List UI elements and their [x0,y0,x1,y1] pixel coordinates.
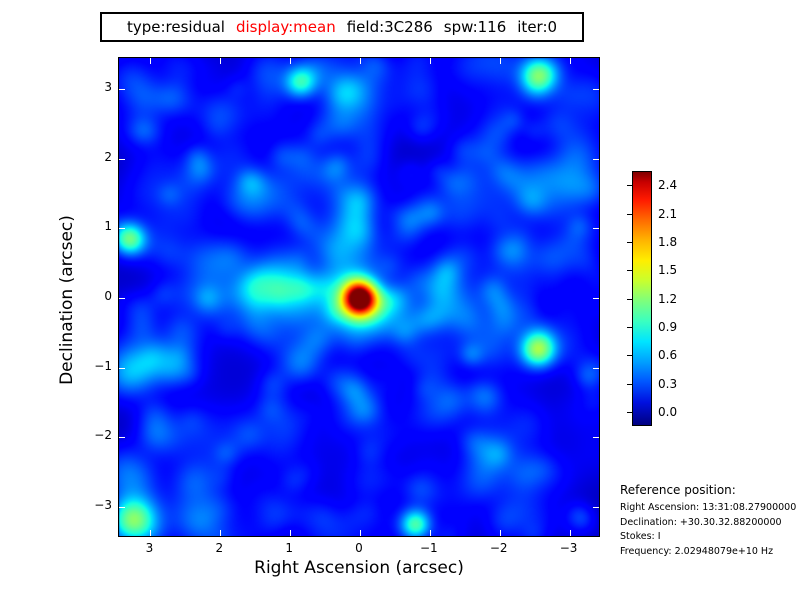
header-item-type: type:residual [127,20,225,35]
colorbar-tick-mark [627,327,632,328]
colorbar-tick-mark [627,299,632,300]
x-tick-mark [500,530,501,536]
reference-stokes: Stokes: I [620,530,800,545]
x-tick-label: 3 [129,541,169,555]
x-tick-label: 1 [269,541,309,555]
x-tick-mark [360,58,361,64]
colorbar-tick-mark [627,412,632,413]
colorbar-tick-label: 1.2 [658,292,677,306]
residual-image-canvas[interactable] [119,58,600,537]
y-tick-label: 3 [82,80,112,94]
reference-position-title: Reference position: [620,483,800,497]
y-tick-mark [119,437,125,438]
colorbar-tick-label: 2.1 [658,207,677,221]
colorbar-tick-label: 2.4 [658,178,677,192]
colorbar-tick-mark [627,242,632,243]
colorbar-tick-mark [627,270,632,271]
y-tick-mark [593,368,599,369]
y-tick-mark [119,368,125,369]
y-tick-mark [119,298,125,299]
y-tick-label: 0 [82,289,112,303]
y-tick-mark [593,437,599,438]
x-tick-mark [570,530,571,536]
colorbar-tick-label: 0.3 [658,377,677,391]
image-info-header: type:residual display:mean field:3C286 s… [100,12,584,42]
colorbar-tick-mark [627,185,632,186]
y-tick-mark [593,228,599,229]
colorbar[interactable] [632,171,652,426]
x-tick-mark [570,58,571,64]
y-tick-mark [593,159,599,160]
x-tick-mark [430,530,431,536]
y-tick-label: −1 [82,359,112,373]
x-tick-mark [220,58,221,64]
y-tick-label: −3 [82,498,112,512]
header-item-display: display:mean [236,20,336,35]
x-tick-mark [430,58,431,64]
x-tick-label: 2 [199,541,239,555]
x-tick-mark [150,58,151,64]
x-tick-label: 0 [339,541,379,555]
x-tick-label: −1 [409,541,449,555]
header-item-spw: spw:116 [444,20,506,35]
y-tick-mark [119,228,125,229]
x-tick-label: −2 [479,541,519,555]
header-item-iter: iter:0 [517,20,557,35]
x-tick-label: −3 [549,541,589,555]
y-tick-mark [593,89,599,90]
x-tick-mark [150,530,151,536]
x-tick-mark [290,58,291,64]
x-axis-title: Right Ascension (arcsec) [118,558,600,578]
x-tick-mark [360,530,361,536]
reference-position-block: Reference position: Right Ascension: 13:… [620,483,800,560]
y-tick-mark [119,89,125,90]
colorbar-tick-label: 0.0 [658,405,677,419]
colorbar-tick-label: 0.9 [658,320,677,334]
reference-declination: Declination: +30.30.32.88200000 [620,516,800,531]
x-tick-mark [290,530,291,536]
colorbar-gradient [632,171,652,426]
y-tick-mark [119,507,125,508]
colorbar-tick-label: 0.6 [658,348,677,362]
colorbar-tick-mark [627,214,632,215]
sky-image-axes[interactable] [118,57,600,537]
colorbar-tick-label: 1.8 [658,235,677,249]
y-tick-mark [119,159,125,160]
colorbar-tick-label: 1.5 [658,263,677,277]
y-tick-label: −2 [82,428,112,442]
reference-right-ascension: Right Ascension: 13:31:08.27900000 [620,501,800,516]
y-tick-mark [593,507,599,508]
y-axis-title: Declination (arcsec) [57,60,77,540]
colorbar-tick-mark [627,384,632,385]
y-tick-label: 1 [82,219,112,233]
reference-frequency: Frequency: 2.02948079e+10 Hz [620,545,800,560]
x-tick-mark [500,58,501,64]
x-tick-mark [220,530,221,536]
header-item-field: field:3C286 [347,20,433,35]
y-tick-mark [593,298,599,299]
colorbar-tick-mark [627,355,632,356]
y-tick-label: 2 [82,150,112,164]
